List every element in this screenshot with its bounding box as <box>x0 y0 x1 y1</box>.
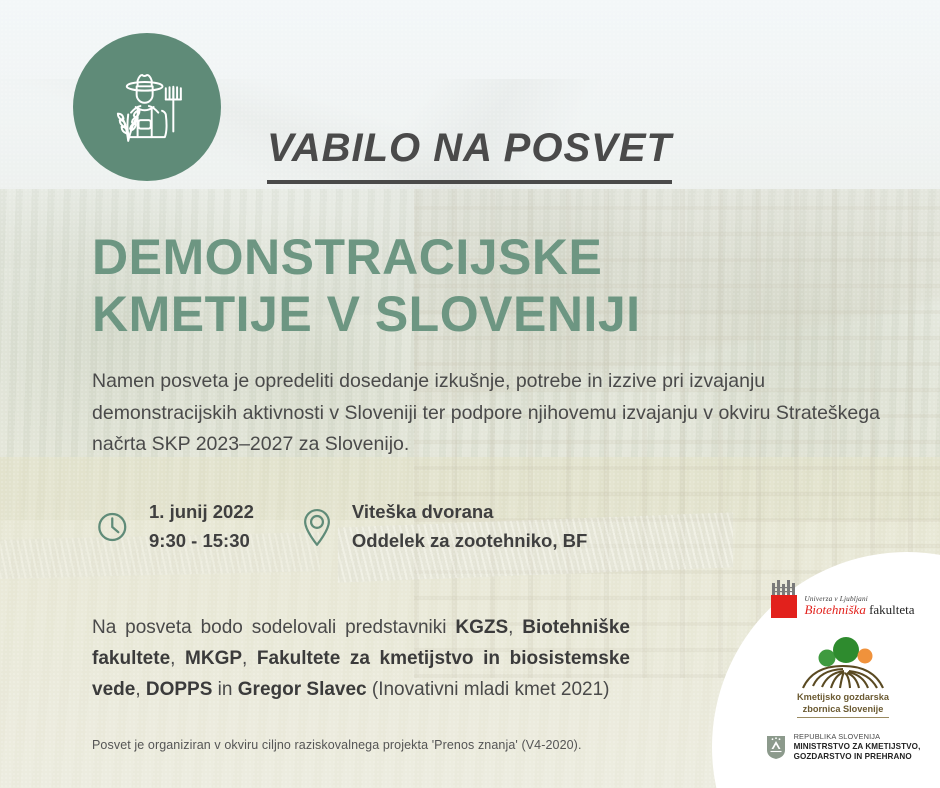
event-date: 1. junij 2022 <box>149 498 254 527</box>
participants-segment-1: KGZS <box>455 617 508 638</box>
participants-segment-11: Gregor Slavec <box>238 679 367 700</box>
participants-segment-2: , <box>508 617 522 638</box>
event-datetime: 1. junij 2022 9:30 - 15:30 <box>95 498 254 555</box>
kgzs-emblem-icon <box>789 632 897 692</box>
logo-ministry: REPUBLIKA SLOVENIJA MINISTRSTVO ZA KMETI… <box>766 732 921 763</box>
event-invitation-poster: VABILO NA POSVET DEMONSTRACIJSKE KMETIJE… <box>0 0 940 788</box>
event-location: Viteška dvorana Oddelek za zootehniko, B… <box>298 498 587 555</box>
kgzs-line-2: zbornica Slovenije <box>797 704 889 716</box>
page-title: DEMONSTRACIJSKE KMETIJE V SLOVENIJI <box>92 229 641 343</box>
farmer-icon <box>100 60 194 154</box>
venue-name: Viteška dvorana <box>352 498 587 527</box>
headline-line-2: KMETIJE V SLOVENIJI <box>92 286 641 342</box>
ul-faculty-italic: Biotehniška <box>804 602 865 617</box>
participants-segment-10: in <box>212 679 237 700</box>
kgzs-line-1: Kmetijsko gozdarska <box>797 692 889 704</box>
ul-faculty-rest: fakulteta <box>866 602 915 617</box>
project-footnote: Posvet je organiziran v okviru ciljno ra… <box>92 738 692 752</box>
event-time: 9:30 - 15:30 <box>149 527 254 556</box>
slovenia-coat-of-arms-icon <box>766 735 786 760</box>
ministry-name-line-2: GOZDARSTVO IN PREHRANO <box>794 752 921 763</box>
participants-segment-12: (Inovativni mladi kmet 2021) <box>367 679 610 700</box>
description-text: Namen posveta je opredeliti dosedanje iz… <box>92 366 882 461</box>
participants-segment-5: MKGP <box>185 648 242 669</box>
participants-segment-9: DOPPS <box>146 679 213 700</box>
ministry-country: REPUBLIKA SLOVENIJA <box>794 732 921 742</box>
clock-icon <box>95 505 133 549</box>
participants-segment-6: , <box>242 648 257 669</box>
ministry-name-line-1: MINISTRSTVO ZA KMETIJSTVO, <box>794 742 921 753</box>
headline-line-1: DEMONSTRACIJSKE <box>92 229 602 285</box>
participants-segment-4: , <box>170 648 185 669</box>
castle-icon <box>771 578 797 595</box>
logo-university-of-ljubljana: Univerza v Ljubljani Biotehniška fakulte… <box>771 578 914 618</box>
ul-faculty-line: Biotehniška fakulteta <box>804 603 914 618</box>
logo-kgzs: Kmetijsko gozdarska zbornica Slovenije <box>789 632 897 718</box>
map-pin-icon <box>298 505 336 549</box>
farmer-badge <box>73 33 221 181</box>
ul-castle-mark <box>771 578 797 618</box>
logo-group: Univerza v Ljubljani Biotehniška fakulte… <box>748 578 938 763</box>
participants-segment-0: Na posveta bodo sodelovali predstavniki <box>92 617 455 638</box>
kicker-title: VABILO NA POSVET <box>267 126 672 184</box>
event-meta: 1. junij 2022 9:30 - 15:30 Viteška dvora… <box>95 498 587 555</box>
participants-text: Na posveta bodo sodelovali predstavniki … <box>92 613 630 705</box>
ul-red-square <box>771 595 797 618</box>
participants-segment-8: , <box>135 679 146 700</box>
venue-department: Oddelek za zootehniko, BF <box>352 527 587 556</box>
